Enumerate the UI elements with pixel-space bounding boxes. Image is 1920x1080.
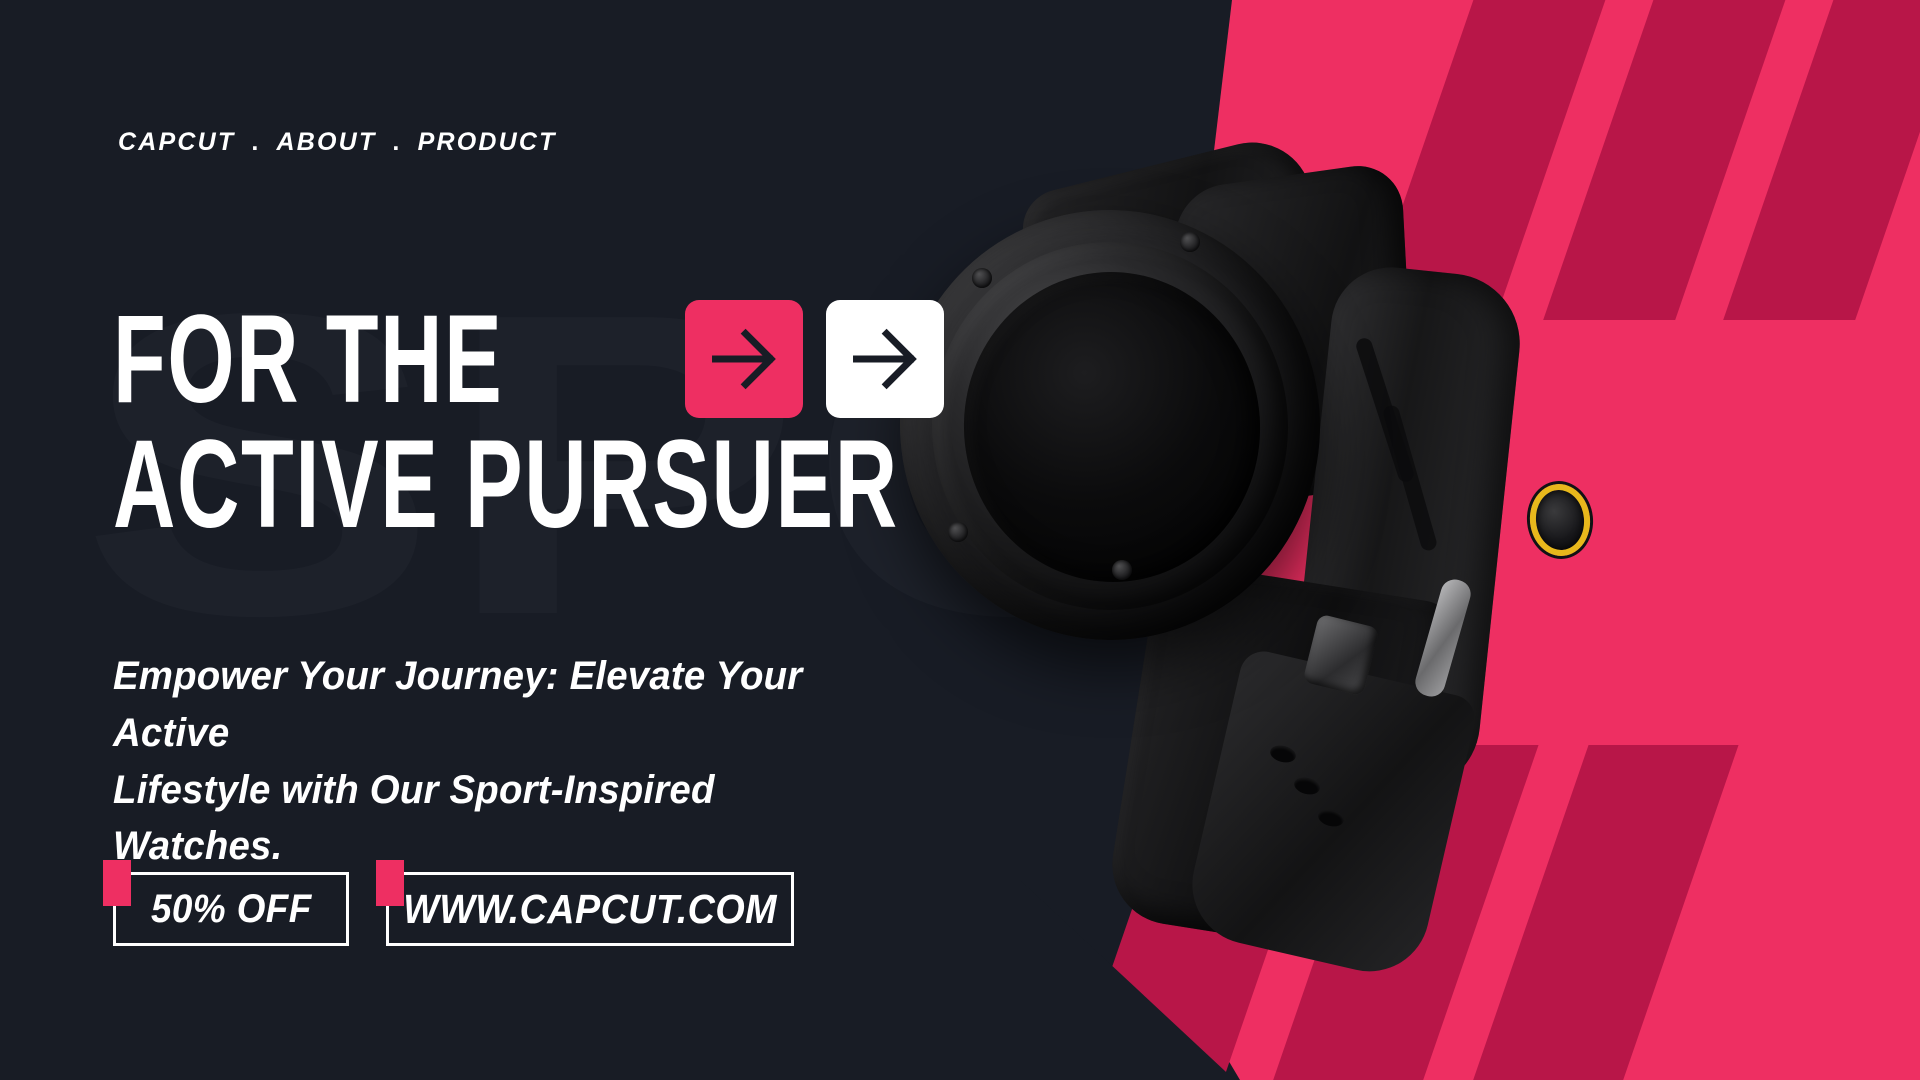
arrow-right-icon	[847, 321, 923, 397]
nav-item-capcut[interactable]: CAPCUT	[118, 128, 235, 157]
content-column: CAPCUT . ABOUT . PRODUCT FOR THE	[0, 0, 1000, 1080]
arrow-right-icon	[706, 321, 782, 397]
corner-accent-square	[103, 860, 131, 906]
website-frame: WWW.CAPCUT.COM	[386, 872, 794, 946]
arrow-button-group	[685, 300, 944, 418]
discount-badge[interactable]: 50% OFF	[113, 872, 349, 946]
headline-row-1: FOR THE	[113, 300, 1095, 418]
website-badge[interactable]: WWW.CAPCUT.COM	[386, 872, 794, 946]
subtitle-line-1: Empower Your Journey: Elevate Your Activ…	[113, 648, 804, 762]
subtitle-block: Empower Your Journey: Elevate Your Activ…	[113, 648, 804, 875]
nav-separator: .	[376, 128, 417, 157]
watch-crown-button	[1526, 481, 1593, 559]
nav-separator: .	[235, 128, 276, 157]
cta-row: 50% OFF WWW.CAPCUT.COM	[113, 872, 794, 946]
headline-block: FOR THE ACTIV	[113, 300, 1095, 533]
headline-line-1: FOR THE	[113, 301, 503, 416]
discount-frame: 50% OFF	[113, 872, 349, 946]
corner-accent-square	[376, 860, 404, 906]
bezel-screw	[1112, 560, 1132, 580]
subtitle-line-2: Lifestyle with Our Sport-Inspired Watche…	[113, 762, 804, 876]
promo-banner: SPO CAPCUT . ABOUT . PRODUCT	[0, 0, 1920, 1080]
nav-item-product[interactable]: PRODUCT	[418, 128, 557, 157]
nav-item-about[interactable]: ABOUT	[277, 128, 377, 157]
arrow-button-primary[interactable]	[685, 300, 803, 418]
discount-label: 50% OFF	[151, 887, 312, 932]
headline-line-2: ACTIVE PURSUER	[113, 426, 899, 541]
bezel-screw	[1180, 232, 1200, 252]
top-navigation: CAPCUT . ABOUT . PRODUCT	[118, 128, 557, 157]
website-label: WWW.CAPCUT.COM	[403, 886, 777, 933]
arrow-button-secondary[interactable]	[826, 300, 944, 418]
